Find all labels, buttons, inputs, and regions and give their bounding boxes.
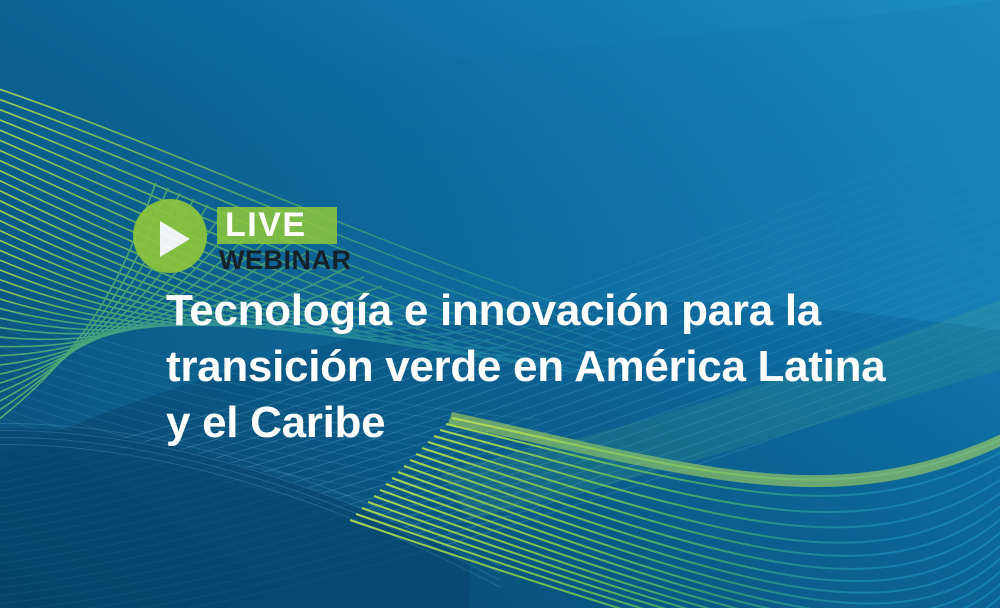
live-webinar-badge: LIVE WEBINAR: [133, 196, 553, 286]
play-icon: [160, 221, 190, 257]
webinar-label: WEBINAR: [219, 244, 352, 276]
page-title: Tecnología e innovación para la transici…: [166, 283, 966, 451]
webinar-banner: LIVE WEBINAR Tecnología e innovación par…: [0, 0, 1000, 608]
title-line-1: Tecnología e innovación para la: [166, 283, 966, 339]
title-line-2: transición verde en América Latina: [166, 339, 966, 395]
live-label: LIVE: [225, 205, 307, 245]
play-button-circle[interactable]: [133, 199, 207, 273]
title-line-3: y el Caribe: [166, 395, 966, 451]
